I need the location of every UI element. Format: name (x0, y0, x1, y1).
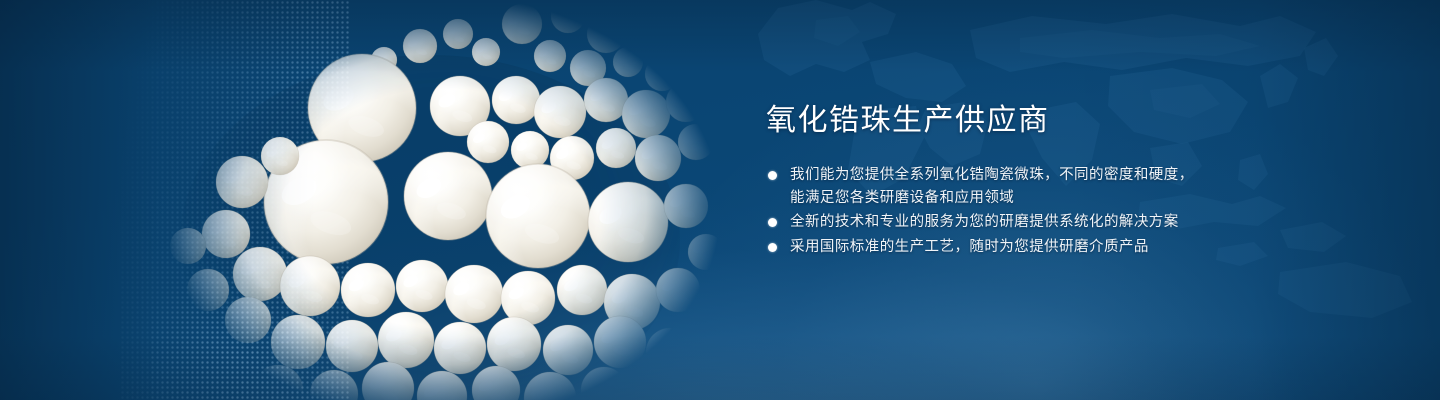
list-item: 我们能为您提供全系列氧化锆陶瓷微珠，不同的密度和硬度， 能满足您各类研磨设备和应… (764, 164, 1234, 209)
banner-content: 氧化锆珠生产供应商 我们能为您提供全系列氧化锆陶瓷微珠，不同的密度和硬度， 能满… (764, 104, 1234, 260)
list-item-line: 我们能为您提供全系列氧化锆陶瓷微珠，不同的密度和硬度， (790, 164, 1234, 187)
page-title: 氧化锆珠生产供应商 (766, 104, 1234, 138)
list-item: 采用国际标准的生产工艺，随时为您提供研磨介质产品 (764, 236, 1234, 259)
list-item: 全新的技术和专业的服务为您的研磨提供系统化的解决方案 (764, 211, 1234, 234)
list-item-line: 能满足您各类研磨设备和应用领域 (790, 187, 1234, 210)
bullet-dot-icon (768, 171, 777, 180)
bullet-dot-icon (768, 218, 777, 227)
list-item-line: 采用国际标准的生产工艺，随时为您提供研磨介质产品 (790, 236, 1234, 259)
feature-list: 我们能为您提供全系列氧化锆陶瓷微珠，不同的密度和硬度， 能满足您各类研磨设备和应… (764, 164, 1234, 258)
hero-banner: 氧化锆珠生产供应商 我们能为您提供全系列氧化锆陶瓷微珠，不同的密度和硬度， 能满… (0, 0, 1440, 400)
bullet-dot-icon (768, 243, 777, 252)
list-item-line: 全新的技术和专业的服务为您的研磨提供系统化的解决方案 (790, 211, 1234, 234)
